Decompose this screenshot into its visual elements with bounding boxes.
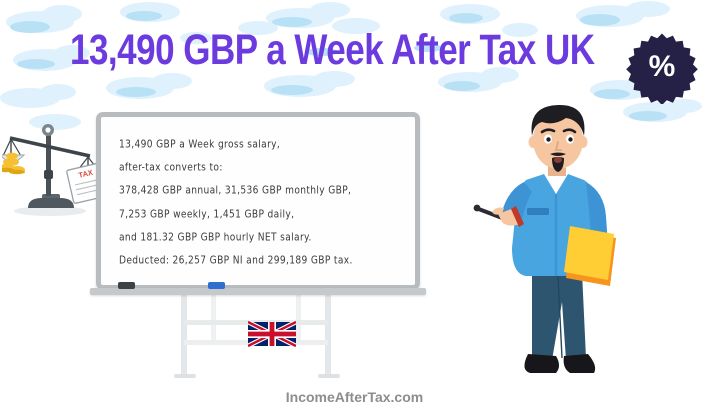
percent-badge-symbol: % (626, 32, 698, 104)
balance-scales-icon: TAX (2, 112, 106, 220)
marker-tray (90, 288, 426, 295)
whiteboard-text: 13,490 GBP a Week gross salary, after-ta… (119, 134, 411, 273)
page-title: 13,490 GBP a Week After Tax UK (70, 26, 630, 75)
marker-black-icon (118, 282, 135, 289)
whiteboard-frame: 13,490 GBP a Week gross salary, after-ta… (96, 112, 420, 290)
board-line-6: Deducted: 26,257 GBP NI and 299,189 GBP … (119, 248, 411, 275)
folder-icon (564, 226, 616, 286)
infographic-page: 13,490 GBP a Week After Tax UK % (0, 0, 709, 419)
whiteboard: 13,490 GBP a Week gross salary, after-ta… (96, 112, 420, 297)
whiteboard-surface: 13,490 GBP a Week gross salary, after-ta… (101, 117, 415, 285)
marker-blue-icon (208, 282, 225, 289)
presenter-illustration (470, 96, 650, 388)
percent-badge: % (626, 32, 698, 104)
footer-site-name: IncomeAfterTax.com (0, 389, 709, 405)
uk-flag (248, 319, 296, 349)
